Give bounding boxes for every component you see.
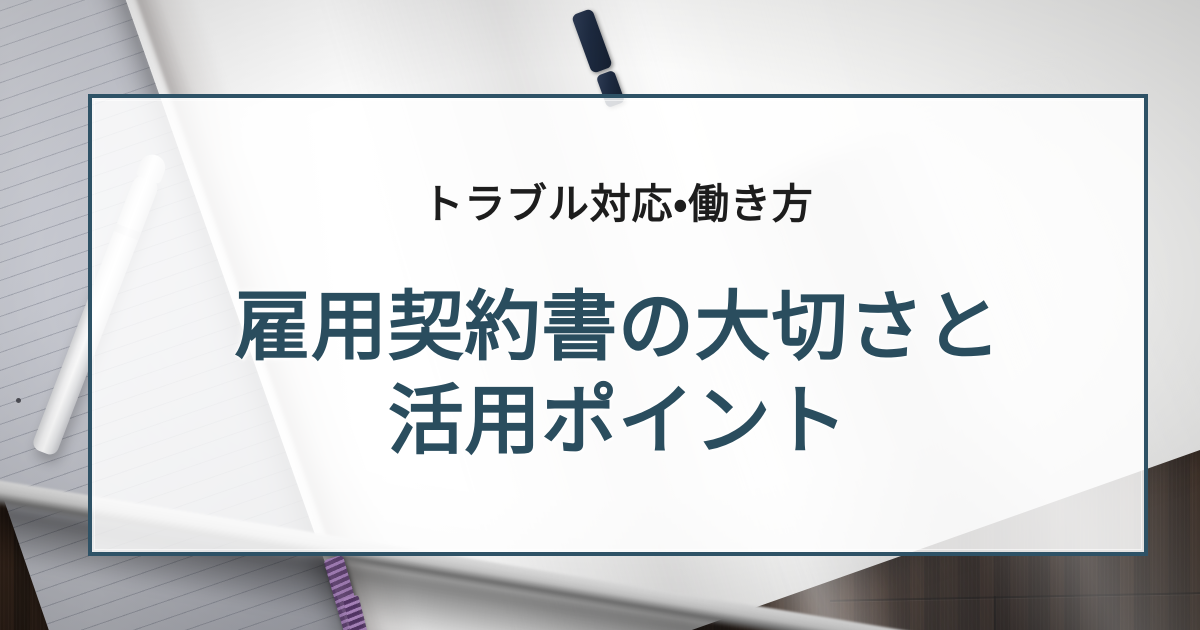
page-title-line-2: 活用ポイント [234,375,1002,468]
page-title: 雇用契約書の大切さと 活用ポイント [234,281,1002,468]
page-title-line-1: 雇用契約書の大切さと [234,281,1002,374]
og-banner-image: トラブル対応・働き方 雇用契約書の大切さと 活用ポイント [0,0,1200,630]
category-eyebrow: トラブル対応・働き方 [422,182,813,227]
title-frame-panel: トラブル対応・働き方 雇用契約書の大切さと 活用ポイント [88,94,1148,556]
